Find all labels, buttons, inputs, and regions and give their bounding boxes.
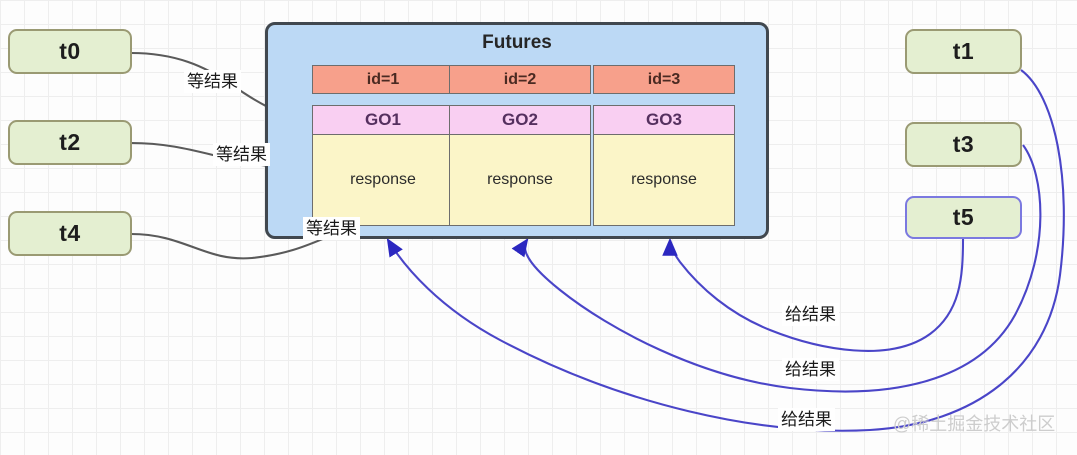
thread-node-t5-label: t5 (953, 204, 974, 231)
future-column-3[interactable]: id=3 GO3 response (593, 65, 735, 226)
future-go-box-2: GO2 (449, 105, 591, 134)
future-id-box-2: id=2 (449, 65, 591, 94)
futures-container[interactable]: Futures id=1 GO1 response id=2 GO2 respo… (265, 22, 769, 239)
edge-t5-to-response3 (670, 239, 963, 351)
edge-label-wait-2: 等结果 (213, 143, 270, 166)
watermark: @稀土掘金技术社区 (893, 410, 1055, 436)
future-id-box-3: id=3 (593, 65, 735, 94)
edge-label-wait-3: 等结果 (303, 217, 360, 240)
thread-node-t2[interactable]: t2 (8, 120, 132, 165)
diagram-canvas: t0 t2 t4 t1 t3 t5 Futures id=1 GO1 respo… (0, 0, 1077, 455)
thread-node-t0-label: t0 (59, 38, 80, 65)
future-column-1[interactable]: id=1 GO1 response (312, 65, 454, 226)
thread-node-t3-label: t3 (953, 131, 974, 158)
thread-node-t1[interactable]: t1 (905, 29, 1022, 74)
future-response-box-2: response (449, 134, 591, 226)
thread-node-t3[interactable]: t3 (905, 122, 1022, 167)
future-response-box-3: response (593, 134, 735, 226)
edge-label-give-2: 给结果 (782, 358, 839, 381)
future-id-box-1: id=1 (312, 65, 454, 94)
thread-node-t4[interactable]: t4 (8, 211, 132, 256)
thread-node-t4-label: t4 (59, 220, 80, 247)
edge-label-wait-1: 等结果 (184, 70, 241, 93)
edge-label-give-1: 给结果 (782, 303, 839, 326)
futures-title: Futures (268, 32, 766, 54)
thread-node-t1-label: t1 (953, 38, 974, 65)
future-response-box-1: response (312, 134, 454, 226)
thread-node-t2-label: t2 (59, 129, 80, 156)
thread-node-t5[interactable]: t5 (905, 196, 1022, 239)
thread-node-t0[interactable]: t0 (8, 29, 132, 74)
future-go-box-1: GO1 (312, 105, 454, 134)
future-column-2[interactable]: id=2 GO2 response (449, 65, 591, 226)
future-go-box-3: GO3 (593, 105, 735, 134)
edge-label-give-3: 给结果 (778, 408, 835, 431)
